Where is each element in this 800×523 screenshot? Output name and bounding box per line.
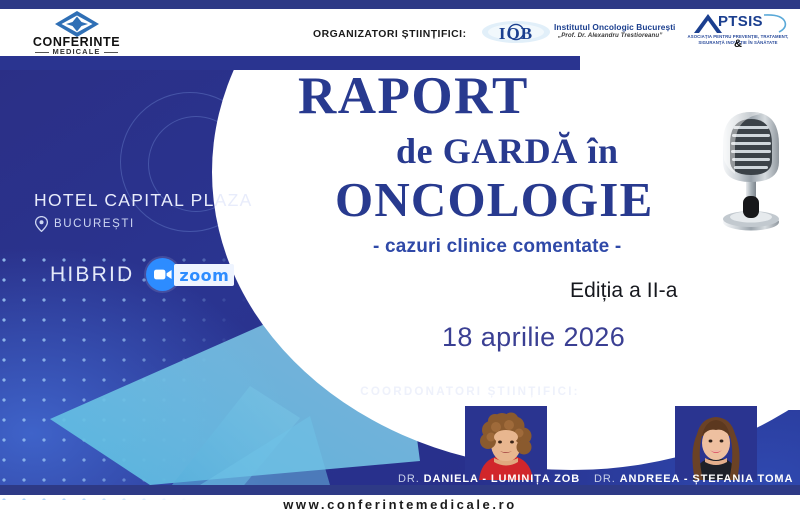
aptsis-wordmark: PTSIS xyxy=(718,14,763,29)
aptsis-logo[interactable]: PTSIS ASOCIAȚIA PENTRU PREVENȚIE, TRATAM… xyxy=(686,13,790,53)
event-format-row: HIBRID zoom xyxy=(50,258,234,291)
iob-subtitle: „Prof. Dr. Alexandru Trestioreanu” xyxy=(558,32,663,39)
organizers-label: ORGANIZATORI ȘTIINȚIFICI: xyxy=(313,29,467,40)
title-subtitle: - cazuri clinice comentate - xyxy=(250,236,750,258)
iob-logo[interactable]: IOB Institutul Oncologic București „Prof… xyxy=(482,17,672,47)
zoom-wordmark: zoom xyxy=(174,264,234,286)
location-pin-icon xyxy=(35,216,48,232)
coordinator-photo-2 xyxy=(675,406,757,480)
website-url[interactable]: www.conferintemedicale.ro xyxy=(0,497,800,512)
title-line-1: RAPORT xyxy=(250,70,750,123)
coordinator-photo-1 xyxy=(465,406,547,480)
iob-emblem-icon: IOB xyxy=(482,19,550,45)
venue-hotel-name: HOTEL CAPITAL PLAZA xyxy=(34,190,253,211)
conferinte-medicale-logo[interactable]: CONFERINTE MEDICALE xyxy=(24,11,129,55)
event-format-label: HIBRID xyxy=(50,263,134,287)
zoom-logo[interactable]: zoom xyxy=(146,258,234,291)
venue-city-row: BUCUREȘTI xyxy=(35,216,135,232)
bottom-accent-bar xyxy=(0,485,800,495)
event-date: 18 aprilie 2026 xyxy=(250,322,750,353)
iob-name: Institutul Oncologic București xyxy=(554,22,675,32)
title-line-3: ONCOLOGIE xyxy=(250,175,750,224)
venue-city: BUCUREȘTI xyxy=(54,218,135,230)
aptsis-ampersand: & xyxy=(734,39,742,50)
diamond-star-icon xyxy=(55,11,99,37)
retro-microphone-icon xyxy=(705,104,797,236)
coordinator-name-1: DR. DANIELA - LUMINIȚA ZOB xyxy=(398,473,580,485)
logo-text-secondary: MEDICALE xyxy=(24,48,129,56)
conference-poster: CONFERINTE MEDICALE ORGANIZATORI ȘTIINȚI… xyxy=(0,0,800,523)
coordinators-label: COORDONATORI ȘTIINȚIFICI: xyxy=(0,385,800,398)
coordinator-photos xyxy=(430,406,800,480)
coordinator-name-2: DR. ANDREEA - ȘTEFANIA TOMA xyxy=(594,473,793,485)
title-line-2: de GARDĂ în xyxy=(250,133,750,169)
edition-label: Ediția a II-a xyxy=(250,279,750,303)
title-block: RAPORT de GARDĂ în ONCOLOGIE - cazuri cl… xyxy=(250,70,750,353)
top-accent-bar xyxy=(0,0,800,9)
